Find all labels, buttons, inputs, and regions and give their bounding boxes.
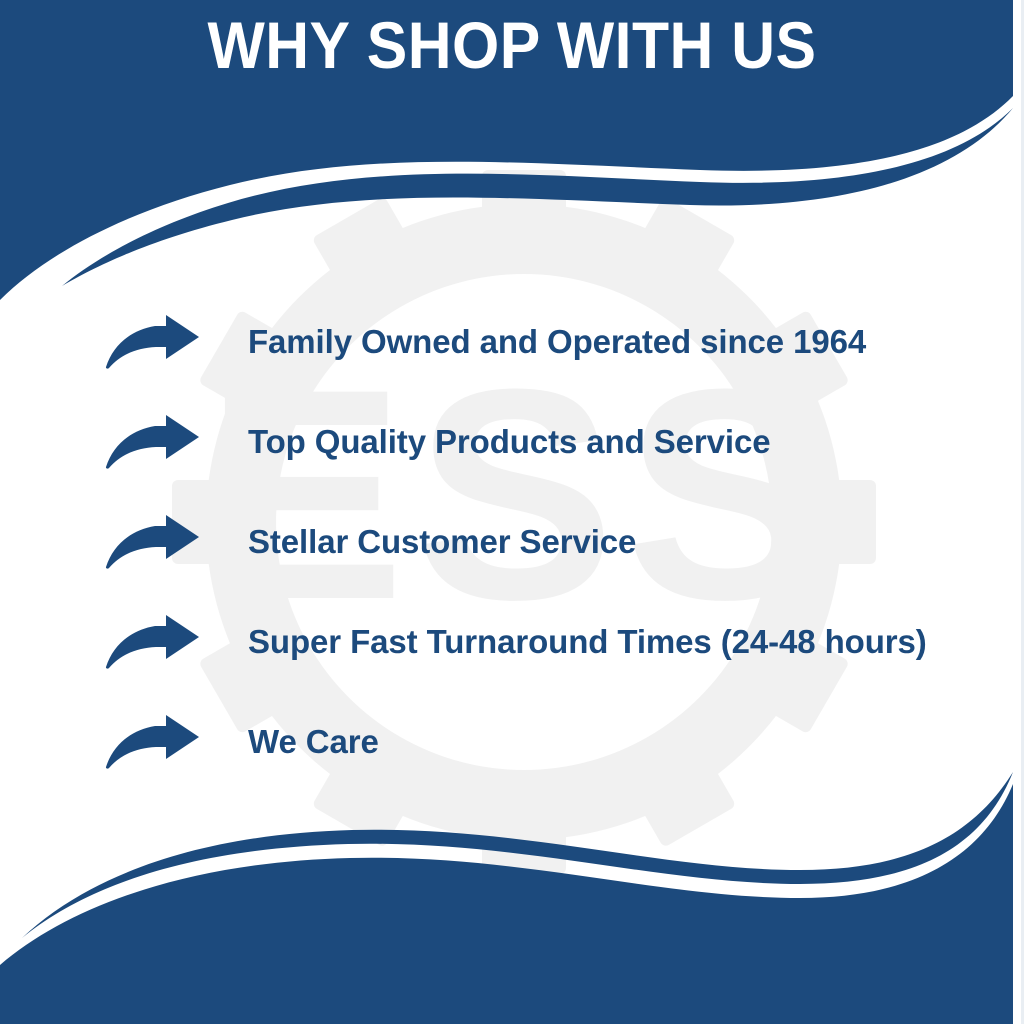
list-item: Stellar Customer Service [0,492,1024,592]
curved-arrow-right-icon [103,414,201,470]
list-item: Super Fast Turnaround Times (24-48 hours… [0,592,1024,692]
list-item: We Care [0,692,1024,792]
feature-label: Family Owned and Operated since 1964 [248,322,866,362]
curved-arrow-right-icon [103,314,201,370]
feature-label: We Care [248,722,379,762]
feature-label: Super Fast Turnaround Times (24-48 hours… [248,622,927,662]
feature-label: Top Quality Products and Service [248,422,770,462]
curved-arrow-right-icon [103,714,201,770]
list-item: Family Owned and Operated since 1964 [0,292,1024,392]
curved-arrow-right-icon [103,614,201,670]
list-item: Top Quality Products and Service [0,392,1024,492]
curved-arrow-right-icon [103,514,201,570]
feature-list: Family Owned and Operated since 1964 Top… [0,292,1024,792]
page-title: WHY SHOP WITH US [207,8,816,82]
poster-header: WHY SHOP WITH US [0,8,1024,82]
feature-label: Stellar Customer Service [248,522,636,562]
why-shop-with-us-poster: ESS WHY SHOP WITH US Family Owned and Op… [0,0,1024,1024]
